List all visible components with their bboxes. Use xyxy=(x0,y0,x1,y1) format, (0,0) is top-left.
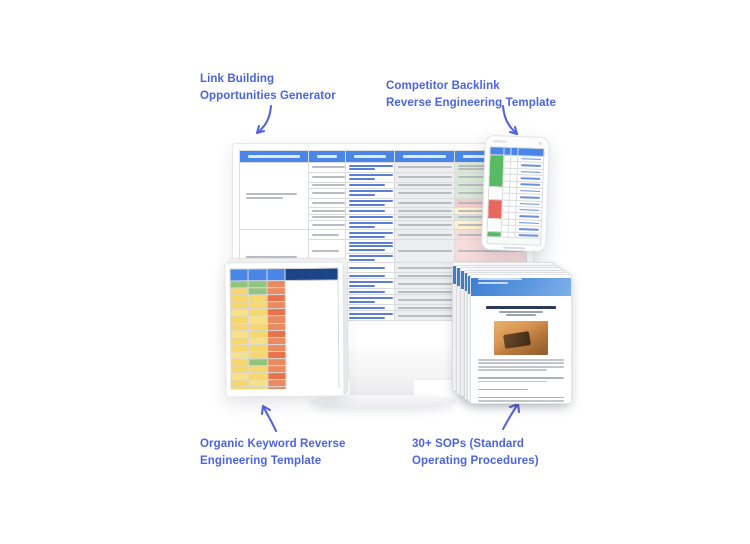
curved-arrow-down-left-icon xyxy=(246,104,276,138)
col-header-contact xyxy=(394,151,454,163)
organic-keyword-template[interactable] xyxy=(224,261,344,397)
phone-camera-icon xyxy=(539,141,542,144)
curved-arrow-down-right-icon xyxy=(498,104,528,138)
sop-paragraph-line xyxy=(478,362,564,364)
sop-paragraph-line xyxy=(478,366,564,368)
sop-paragraph-line xyxy=(478,400,564,402)
col-header-search-volume xyxy=(230,269,248,281)
sop-document-stack xyxy=(452,262,570,402)
sop-document-meta xyxy=(506,314,537,316)
sop-paragraph-line xyxy=(478,389,528,391)
mobile-phone xyxy=(481,135,550,252)
phone-home-indicator xyxy=(503,247,525,250)
sop-paragraph-line xyxy=(478,359,564,361)
phone-speaker-icon xyxy=(493,140,507,142)
spreadsheet-footer-tabs[interactable] xyxy=(231,389,340,396)
col-header-keyword-bucket xyxy=(285,268,338,280)
sop-document-subtitle xyxy=(499,311,544,313)
sop-document-front[interactable] xyxy=(470,274,572,404)
table-header-row xyxy=(230,268,338,281)
monitor-foot xyxy=(310,395,456,409)
phone-screen[interactable] xyxy=(486,146,544,239)
arrow-up-right-icon xyxy=(256,402,284,434)
mockup-stage: Link Building Opportunities Generator Co… xyxy=(0,0,750,544)
col-header-source xyxy=(308,151,345,163)
callout-competitor-backlink-label: Competitor Backlink Reverse Engineering … xyxy=(386,78,556,111)
sop-document-image xyxy=(494,321,548,355)
callout-sops-label: 30+ SOPs (Standard Operating Procedures) xyxy=(412,436,539,469)
organic-keyword-spreadsheet[interactable] xyxy=(229,268,339,390)
col-header-position xyxy=(267,268,285,280)
competitor-backlink-spreadsheet[interactable] xyxy=(486,146,544,239)
sop-paragraph-line xyxy=(478,381,547,383)
sop-paragraph-line xyxy=(478,377,564,379)
sop-header-band xyxy=(471,278,571,296)
col-header-difficulty xyxy=(248,269,266,281)
col-header-keyword xyxy=(240,151,309,163)
sop-paragraph-line xyxy=(478,369,547,371)
col-header-prospect-url xyxy=(346,151,395,163)
sop-document-title xyxy=(486,306,557,309)
callout-organic-keyword-label: Organic Keyword Reverse Engineering Temp… xyxy=(200,436,345,469)
phone-bottom-toolbar[interactable] xyxy=(486,236,541,246)
callout-link-building-label: Link Building Opportunities Generator xyxy=(200,71,336,104)
arrow-up-right-icon xyxy=(497,400,525,432)
sop-paragraph-line xyxy=(478,397,564,399)
